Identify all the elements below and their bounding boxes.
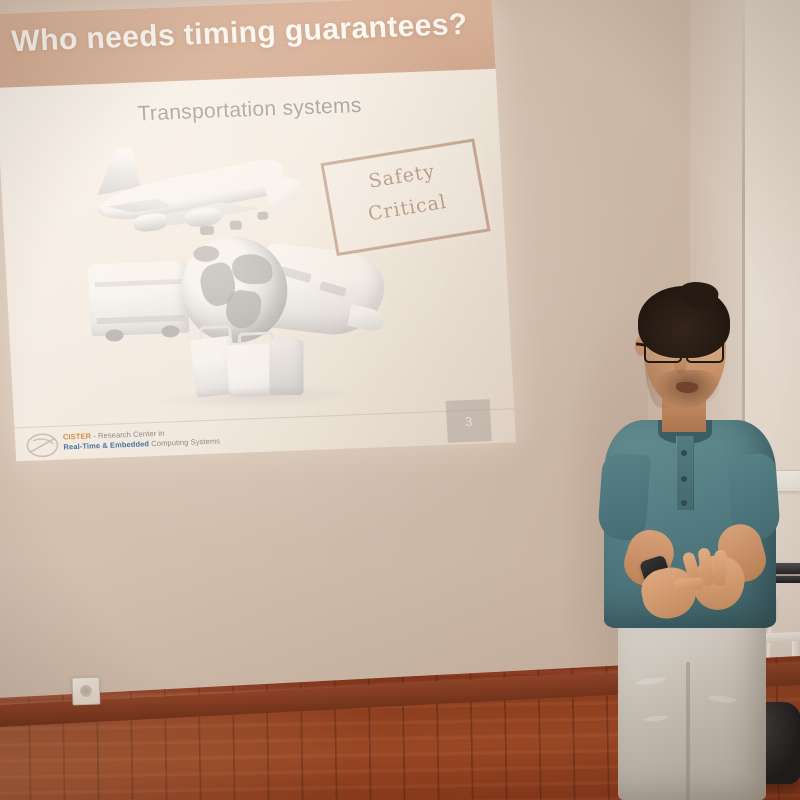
trouser-seam bbox=[686, 662, 690, 800]
slide-number: 3 bbox=[446, 399, 492, 443]
truck-stripe bbox=[95, 279, 183, 287]
presenter bbox=[590, 286, 790, 800]
globe-landmass bbox=[224, 288, 262, 330]
shirt-sleeve-left bbox=[597, 452, 651, 541]
presenter-finger bbox=[713, 550, 726, 586]
shirt-button bbox=[681, 500, 687, 506]
train-window bbox=[319, 281, 346, 297]
airplane-landing-gear bbox=[200, 226, 214, 236]
truck-stripe bbox=[97, 315, 185, 324]
cister-logo bbox=[25, 432, 60, 459]
airplane-landing-gear bbox=[230, 221, 242, 230]
truck-wheel bbox=[161, 325, 180, 338]
montage-ground-shadow bbox=[151, 382, 362, 412]
cister-brand: CISTER bbox=[63, 431, 92, 441]
projected-slide: Who needs timing guarantees? Transportat… bbox=[0, 0, 516, 461]
globe-landmass bbox=[231, 253, 273, 284]
shirt-button bbox=[681, 476, 687, 482]
cister-tagline-2: Computing Systems bbox=[149, 437, 220, 449]
globe-landmass bbox=[193, 245, 220, 262]
airplane-landing-gear bbox=[257, 212, 268, 220]
slide-surface: Who needs timing guarantees? Transportat… bbox=[0, 0, 516, 461]
shirt-placket bbox=[676, 436, 694, 510]
presenter-trousers bbox=[618, 616, 766, 800]
cister-footer-text: CISTER - Research Center in Real-Time & … bbox=[63, 427, 221, 453]
power-outlet-left bbox=[72, 677, 101, 706]
airplane-nose bbox=[264, 174, 303, 206]
truck-wheel bbox=[105, 329, 124, 342]
slide-subtitle: Transportation systems bbox=[137, 94, 362, 127]
presentation-photo: Who needs timing guarantees? Transportat… bbox=[0, 0, 800, 800]
shirt-button bbox=[681, 450, 687, 456]
cister-tagline-accent: Real-Time & Embedded bbox=[63, 439, 149, 451]
truck-graphic bbox=[88, 261, 190, 337]
